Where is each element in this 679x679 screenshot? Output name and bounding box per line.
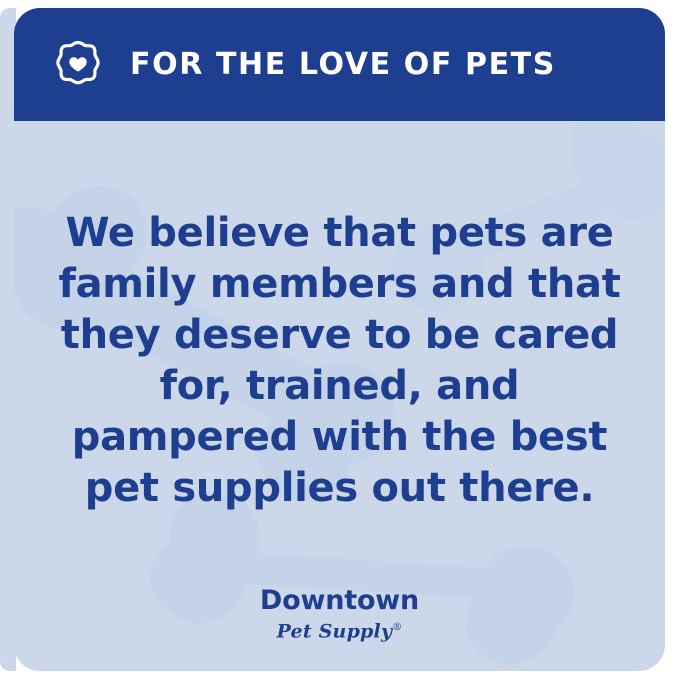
pet-supply-promo-card: FOR THE LOVE OF PETS We believe that pet… xyxy=(0,0,679,679)
registered-trademark-mark: ® xyxy=(392,622,402,633)
quote-text: We believe that pets are family members … xyxy=(14,208,665,514)
brand-name: Downtown xyxy=(14,586,665,616)
card-header: FOR THE LOVE OF PETS xyxy=(14,8,665,121)
card-inner: FOR THE LOVE OF PETS We believe that pet… xyxy=(14,8,665,671)
header-title: FOR THE LOVE OF PETS xyxy=(130,47,556,82)
brand-tagline-text: Pet Supply xyxy=(277,620,393,642)
brand-tagline: Pet Supply® xyxy=(14,616,665,643)
paw-heart-icon xyxy=(52,39,104,91)
brand-lockup: Downtown Pet Supply® xyxy=(14,586,665,643)
